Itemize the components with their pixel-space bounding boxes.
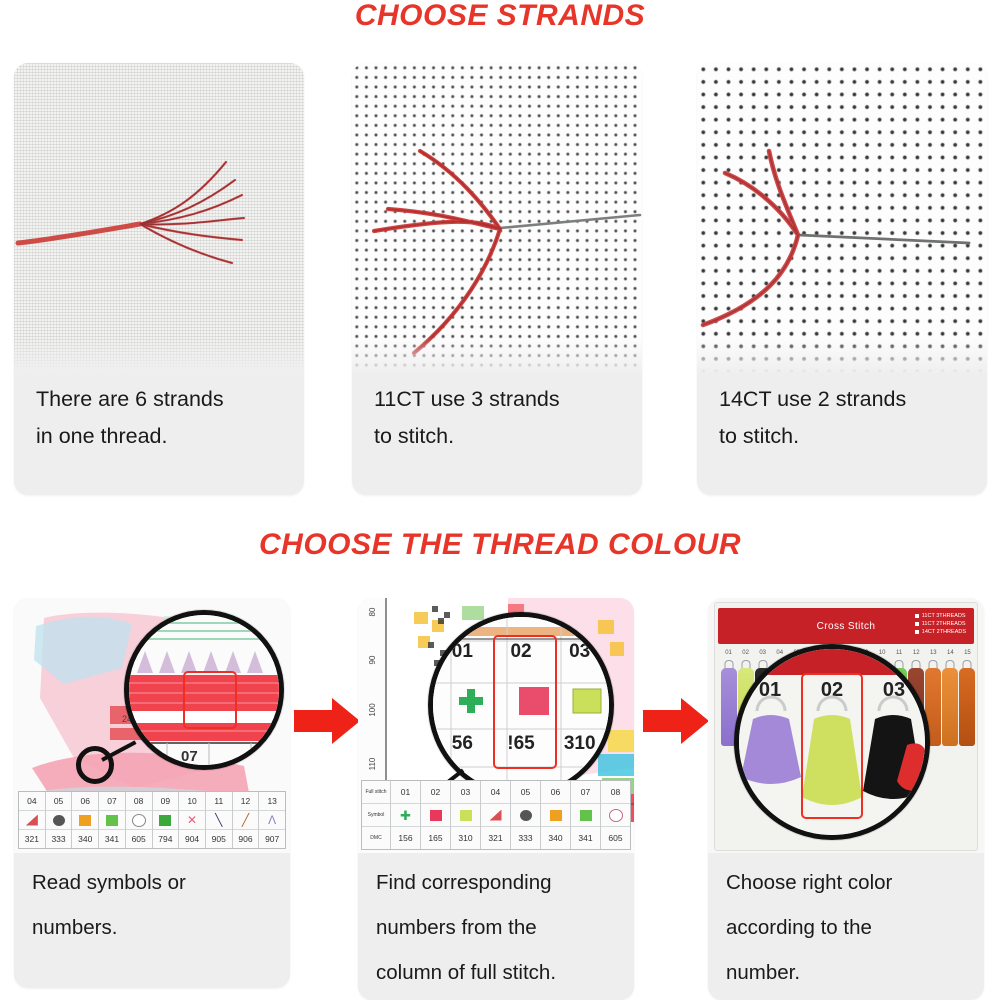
legend-column: 03 310: [451, 781, 481, 849]
legend-symbol: [19, 811, 45, 830]
legend-column: 12 ╱ 906: [233, 792, 260, 848]
legend-number: 333: [46, 830, 72, 848]
legend-number: 165: [421, 827, 450, 849]
option-row: 14CT 2THREADS: [915, 629, 966, 635]
floss: [959, 668, 975, 746]
legend-symbol: [601, 804, 630, 827]
card-11ct: 11CT use 3 strands to stitch.: [352, 63, 642, 495]
legend-code: 08: [601, 781, 630, 804]
caption-read-symbols: Read symbols or numbers.: [32, 860, 276, 950]
skein: [942, 660, 959, 853]
photo-11ct-fabric: [352, 63, 642, 373]
lens-content: 01 02 03: [739, 649, 925, 835]
legend-code: 10: [179, 792, 205, 811]
magnified-number: 56: [433, 733, 492, 755]
card-six-strands: There are 6 strands in one thread.: [14, 63, 304, 495]
legend-number: 605: [601, 827, 630, 849]
legend-number: 321: [481, 827, 510, 849]
legend-symbol: ✕: [179, 811, 205, 830]
legend-number: 321: [19, 830, 45, 848]
legend-column: 08 605: [126, 792, 153, 848]
legend-symbol: [46, 811, 72, 830]
caption-line: 11CT use 3 strands: [374, 381, 628, 418]
legend-column: 05 333: [46, 792, 73, 848]
caption-line: Read symbols or: [32, 860, 276, 905]
skein-number: 15: [959, 650, 976, 656]
caption-line: to stitch.: [719, 418, 973, 455]
legend-number: 906: [233, 830, 259, 848]
legend-symbol: Λ: [259, 811, 285, 830]
highlight-box: [183, 671, 237, 729]
checkbox-icon: [915, 614, 919, 618]
legend-code: 12: [233, 792, 259, 811]
needle: [500, 215, 640, 228]
infographic-page: CHOOSE STRANDS: [0, 0, 1000, 1000]
legend-column: 04 321: [19, 792, 46, 848]
magnified-number: 310: [550, 733, 609, 755]
legend-column: 01 ✚ 156: [391, 781, 421, 849]
caption-line: to stitch.: [374, 418, 628, 455]
section-title-choose-strands: CHOOSE STRANDS: [0, 0, 1000, 33]
photo-pattern-chart-with-axis: 80 90 100 110: [358, 598, 634, 853]
legend-column: 07 341: [99, 792, 126, 848]
legend-row-label: DMC: [362, 827, 390, 849]
legend-symbol: [72, 811, 98, 830]
six-strand-thread-illustration: [14, 63, 304, 373]
caption-14ct: 14CT use 2 strands to stitch.: [719, 381, 973, 455]
caption-six-strands: There are 6 strands in one thread.: [36, 381, 290, 455]
thread-card-header: Cross Stitch 11CT 3THREADS 11CT 2THREADS…: [718, 608, 974, 644]
three-strand-thread-with-needle: [352, 63, 642, 373]
magnified-code: 01: [433, 641, 492, 663]
legend-column: 08 605: [601, 781, 630, 849]
option-row: 11CT 2THREADS: [915, 621, 966, 627]
caption-line: numbers from the: [376, 905, 620, 950]
legend-symbol: ╲: [206, 811, 232, 830]
legend-code: 01: [391, 781, 420, 804]
caption-line: number.: [726, 950, 970, 995]
legend-column: 05 333: [511, 781, 541, 849]
legend-number: 341: [99, 830, 125, 848]
photo-bottom-fade: [14, 337, 304, 373]
legend-symbol: [153, 811, 179, 830]
card-find-numbers: 80 90 100 110: [358, 598, 634, 1000]
legend-symbol: [511, 804, 540, 827]
legend-symbol: ╱: [233, 811, 259, 830]
magnifier-lens-threads: 01 02 03: [734, 644, 930, 840]
magnifier-lens-pattern: 07: [124, 610, 284, 770]
legend-code: 06: [541, 781, 570, 804]
skein-number: 13: [925, 650, 942, 656]
caption-line: column of full stitch.: [376, 950, 620, 995]
legend-number: 340: [72, 830, 98, 848]
legend-number: 907: [259, 830, 285, 848]
legend-symbol: [126, 811, 152, 830]
legend-number: 333: [511, 827, 540, 849]
caption-line: Choose right color: [726, 860, 970, 905]
photo-14ct-fabric: [697, 63, 987, 373]
legend-number: 904: [179, 830, 205, 848]
needle: [799, 235, 969, 243]
legend-column: 10 ✕ 904: [179, 792, 206, 848]
magnified-code: 03: [550, 641, 609, 663]
legend-symbol: [481, 804, 510, 827]
legend-code: 02: [421, 781, 450, 804]
highlight-box: [493, 635, 557, 769]
legend-code: 07: [99, 792, 125, 811]
arrow-right-icon-1: [294, 696, 360, 746]
floss: [942, 668, 958, 746]
legend-code: 05: [511, 781, 540, 804]
caption-line: in one thread.: [36, 418, 290, 455]
legend-code: 13: [259, 792, 285, 811]
lens-content: 01 02 03 56 !65 310: [433, 617, 609, 793]
magnifier-lens-numbers: 01 02 03 56 !65 310: [428, 612, 614, 798]
arrow-right-icon-2: [643, 696, 709, 746]
legend-column: 02 165: [421, 781, 451, 849]
caption-line: according to the: [726, 905, 970, 950]
legend-symbol: [571, 804, 600, 827]
row-axis-label: 80: [368, 607, 377, 616]
photo-thread-card: Cross Stitch 11CT 3THREADS 11CT 2THREADS…: [708, 598, 984, 853]
caption-choose-color: Choose right color according to the numb…: [726, 860, 970, 995]
magnifier-target-circle: [76, 746, 114, 784]
option-label: 11CT 2THREADS: [922, 621, 966, 627]
caption-line: Find corresponding: [376, 860, 620, 905]
legend-symbol: ✚: [391, 804, 420, 827]
highlight-box: [801, 673, 863, 819]
legend-symbol: [451, 804, 480, 827]
pattern-legend-strip: 04 321 05 333 06 340 07 341: [18, 791, 286, 849]
legend-column: 11 ╲ 905: [206, 792, 233, 848]
caption-line: There are 6 strands: [36, 381, 290, 418]
legend-code: 06: [72, 792, 98, 811]
legend-code: 04: [19, 792, 45, 811]
legend-row-labels: Full stitch Symbol DMC: [362, 781, 391, 849]
legend-number: 794: [153, 830, 179, 848]
legend-code: 05: [46, 792, 72, 811]
option-row: 11CT 3THREADS: [915, 613, 966, 619]
row-axis-label: 110: [368, 757, 377, 770]
card-choose-color: Cross Stitch 11CT 3THREADS 11CT 2THREADS…: [708, 598, 984, 1000]
legend-number: 156: [391, 827, 420, 849]
legend-number: 905: [206, 830, 232, 848]
legend-number: 340: [541, 827, 570, 849]
card-read-symbols: 24: [14, 598, 290, 988]
caption-line: numbers.: [32, 905, 276, 950]
lens-content: 07: [129, 615, 279, 765]
row-axis-label: 90: [368, 655, 377, 664]
legend-code: 09: [153, 792, 179, 811]
legend-number: 605: [126, 830, 152, 848]
legend-row-label: Full stitch: [362, 781, 390, 804]
full-stitch-legend-strip: Full stitch Symbol DMC 01 ✚ 156 02 165 0…: [361, 780, 631, 850]
photo-six-strands: [14, 63, 304, 373]
card-14ct: 14CT use 2 strands to stitch.: [697, 63, 987, 495]
legend-symbol: [541, 804, 570, 827]
photo-bottom-fade: [697, 337, 987, 373]
caption-find-numbers: Find corresponding numbers from the colu…: [376, 860, 620, 995]
legend-column: 09 794: [153, 792, 180, 848]
checkbox-icon: [915, 630, 919, 634]
legend-code: 03: [451, 781, 480, 804]
legend-column: 04 321: [481, 781, 511, 849]
legend-code: 08: [126, 792, 152, 811]
option-label: 11CT 3THREADS: [922, 613, 966, 619]
legend-code: 11: [206, 792, 232, 811]
caption-line: 14CT use 2 strands: [719, 381, 973, 418]
legend-code: 04: [481, 781, 510, 804]
legend-column: 13 Λ 907: [259, 792, 285, 848]
thread-card-options: 11CT 3THREADS 11CT 2THREADS 14CT 2THREAD…: [915, 613, 966, 635]
photo-bottom-fade: [352, 337, 642, 373]
option-label: 14CT 2THREADS: [922, 629, 966, 635]
legend-number: 310: [451, 827, 480, 849]
legend-column: 07 341: [571, 781, 601, 849]
checkbox-icon: [915, 622, 919, 626]
legend-number: 341: [571, 827, 600, 849]
legend-symbol: [99, 811, 125, 830]
skein-number: 01: [720, 650, 737, 656]
legend-code: 07: [571, 781, 600, 804]
two-strand-thread-with-needle: [697, 63, 987, 373]
skein-number: 14: [942, 650, 959, 656]
legend-column: 06 340: [72, 792, 99, 848]
photo-pattern-chart: 24: [14, 598, 290, 853]
legend-row-label: Symbol: [362, 804, 390, 827]
legend-symbol: [421, 804, 450, 827]
section-title-choose-thread-colour: CHOOSE THE THREAD COLOUR: [0, 528, 1000, 562]
caption-11ct: 11CT use 3 strands to stitch.: [374, 381, 628, 455]
magnified-code-07: 07: [181, 748, 198, 765]
row-axis-label: 100: [368, 703, 377, 717]
legend-column: 06 340: [541, 781, 571, 849]
skein: [959, 660, 976, 853]
